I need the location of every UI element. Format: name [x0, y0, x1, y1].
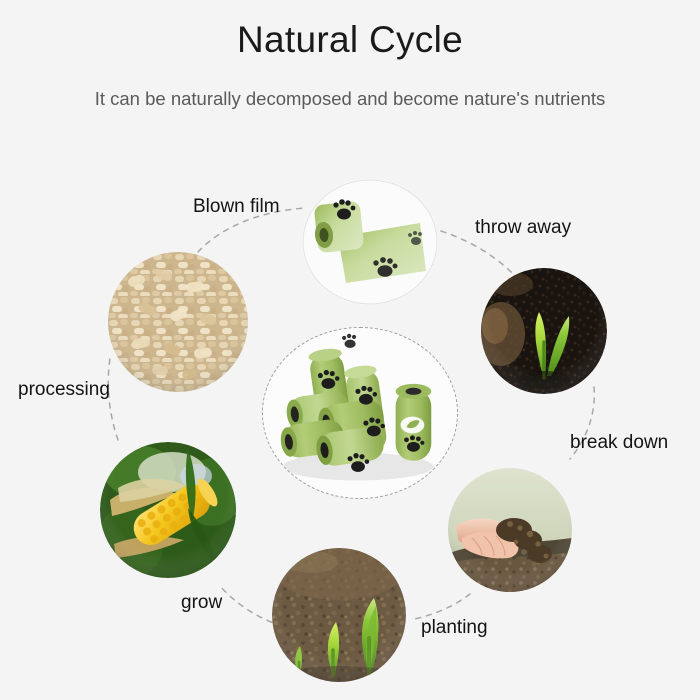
center-product-circle[interactable]: [262, 327, 458, 499]
cycle-label-grow: grow: [181, 592, 222, 614]
cycle-node-planting[interactable]: [272, 548, 406, 682]
cycle-node-grow[interactable]: [100, 442, 236, 578]
cycle-label-throw-away: throw away: [475, 217, 571, 239]
green-film-roll-image: [302, 179, 438, 305]
infographic-canvas: Natural Cycle It can be naturally decomp…: [0, 0, 700, 700]
seedling-dark-soil-image: [481, 268, 607, 394]
cycle-label-processing: processing: [18, 379, 110, 401]
cycle-label-blown-film: Blown film: [193, 196, 280, 218]
cycle-node-break-down[interactable]: [448, 468, 572, 592]
hands-holding-soil-image: [448, 468, 572, 592]
corn-cob-image: [100, 442, 236, 578]
cycle-label-break-down: break down: [570, 432, 668, 454]
resin-pellets-image: [108, 252, 248, 392]
cycle-node-throw-away[interactable]: [481, 268, 607, 394]
cycle-node-blown-film[interactable]: [302, 179, 438, 305]
cycle-label-planting: planting: [421, 617, 488, 639]
cycle-node-processing[interactable]: [108, 252, 248, 392]
three-sprouts-soil-image: [272, 548, 406, 682]
poop-bag-rolls-image: [263, 328, 457, 498]
